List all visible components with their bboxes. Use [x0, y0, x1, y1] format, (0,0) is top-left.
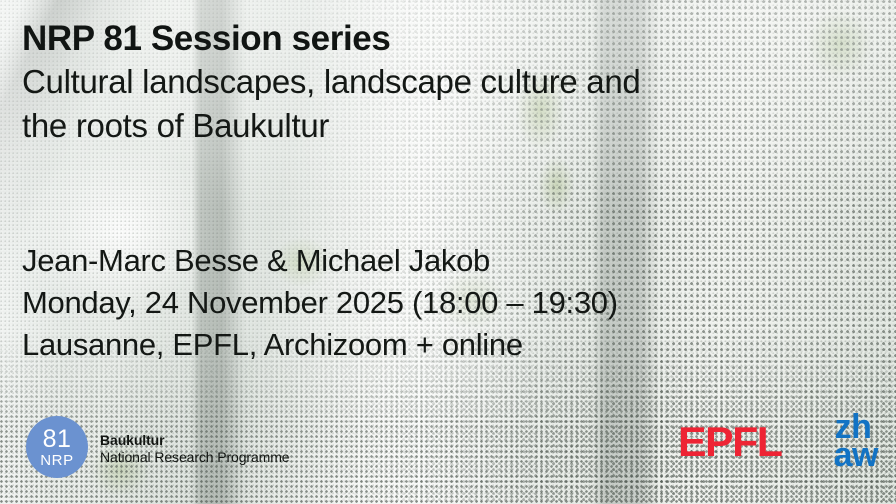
- nrp-abbreviation: NRP: [40, 453, 73, 468]
- zhaw-logo-bottom: aw: [834, 442, 878, 470]
- partner-logo-group: EPFL zh aw: [679, 414, 878, 470]
- subtitle-line-1: Cultural landscapes, landscape culture a…: [22, 61, 872, 103]
- nrp-wordmark: Baukultur National Research Programme: [100, 432, 290, 467]
- nrp-circle-badge: 81 NRP: [26, 416, 88, 478]
- nrp-logo: 81 NRP Baukultur National Research Progr…: [26, 416, 290, 478]
- page-title: NRP 81 Session series: [22, 18, 872, 59]
- event-speakers: Jean-Marc Besse & Michael Jakob: [22, 240, 872, 282]
- subtitle-line-2: the roots of Baukultur: [22, 105, 872, 147]
- event-date-time: Monday, 24 November 2025 (18:00 – 19:30): [22, 282, 872, 324]
- title-block: NRP 81 Session series Cultural landscape…: [22, 18, 872, 147]
- event-location: Lausanne, EPFL, Archizoom + online: [22, 324, 872, 366]
- event-details-block: Jean-Marc Besse & Michael Jakob Monday, …: [22, 240, 872, 366]
- poster-canvas: NRP 81 Session series Cultural landscape…: [0, 0, 896, 504]
- nrp-number: 81: [43, 427, 72, 452]
- zhaw-logo: zh aw: [835, 414, 878, 470]
- poster-content: NRP 81 Session series Cultural landscape…: [0, 0, 896, 504]
- epfl-logo: EPFL: [678, 421, 781, 463]
- nrp-programme-title: Baukultur: [100, 432, 290, 450]
- nrp-programme-subtitle: National Research Programme: [100, 449, 290, 467]
- footer-logo-row: 81 NRP Baukultur National Research Progr…: [0, 408, 896, 504]
